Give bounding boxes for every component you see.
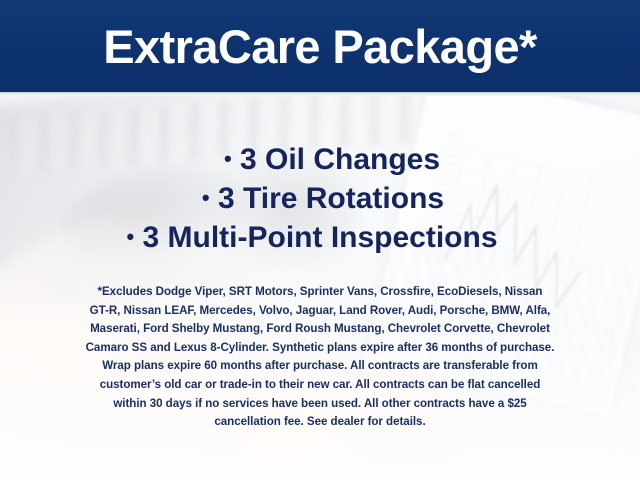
bullet-icon: •	[202, 185, 210, 210]
disclaimer-line: Camaro SS and Lexus 8-Cylinder. Syntheti…	[28, 339, 612, 358]
disclaimer-text: *Excludes Dodge Viper, SRT Motors, Sprin…	[28, 283, 612, 432]
disclaimer-line: within 30 days if no services have been …	[28, 395, 612, 414]
disclaimer-line: customer’s old car or trade-in to their …	[28, 376, 612, 395]
list-item-label: 3 Multi-Point Inspections	[143, 221, 498, 254]
disclaimer-line: cancellation fee. See dealer for details…	[28, 413, 612, 432]
bullet-icon: •	[126, 224, 134, 249]
promo-banner: ExtraCare Package* • 3 Oil Changes • 3 T…	[0, 0, 640, 480]
list-item-label: 3 Tire Rotations	[218, 182, 444, 215]
list-item: • 3 Multi-Point Inspections	[0, 218, 640, 257]
disclaimer-line: Maserati, Ford Shelby Mustang, Ford Rous…	[28, 320, 612, 339]
disclaimer-line: *Excludes Dodge Viper, SRT Motors, Sprin…	[28, 283, 612, 302]
list-item: • 3 Tire Rotations	[0, 179, 640, 218]
list-item: • 3 Oil Changes	[0, 140, 640, 179]
bullet-icon: •	[224, 146, 232, 171]
list-item-label: 3 Oil Changes	[240, 143, 440, 176]
header-band: ExtraCare Package*	[0, 0, 640, 92]
disclaimer-line: Wrap plans expire 60 months after purcha…	[28, 357, 612, 376]
disclaimer-line: GT-R, Nissan LEAF, Mercedes, Volvo, Jagu…	[28, 302, 612, 321]
header-divider	[0, 92, 640, 96]
page-title: ExtraCare Package*	[0, 20, 640, 74]
benefits-list: • 3 Oil Changes • 3 Tire Rotations • 3 M…	[0, 140, 640, 257]
